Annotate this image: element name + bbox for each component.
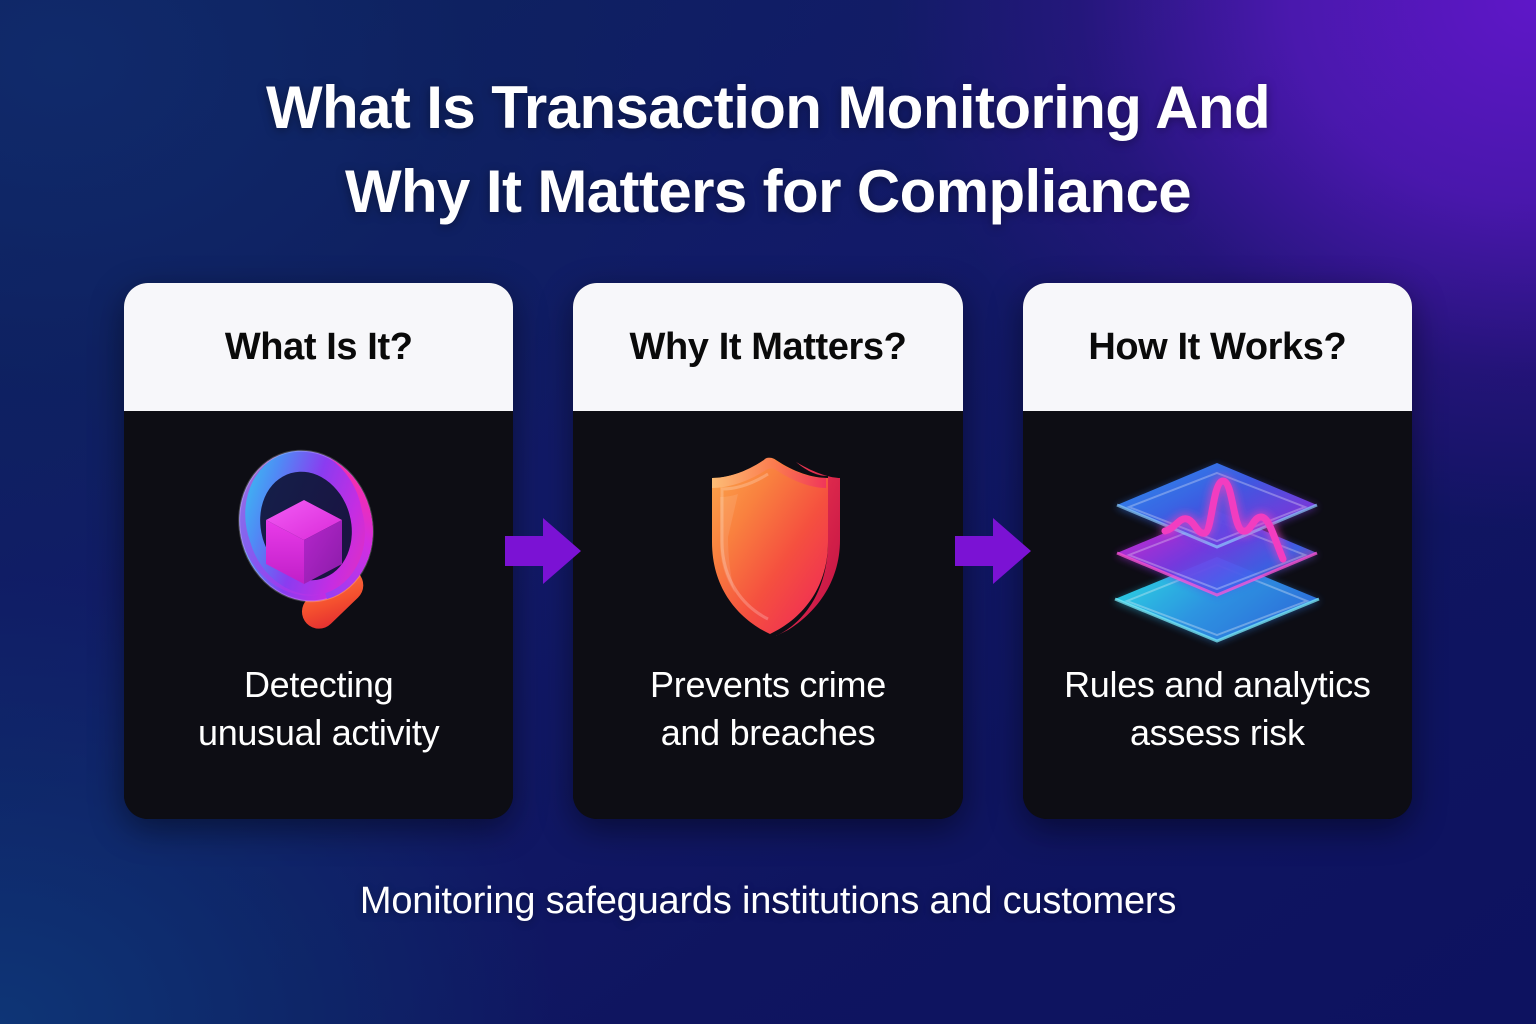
page-title: What Is Transaction Monitoring And Why I… [0,66,1536,234]
card-body-3: Rules and analytics assess risk [1023,411,1412,819]
cards-row: What Is It? [124,283,1412,819]
arrow-two-to-three [955,512,1031,590]
card-caption-2: Prevents crime and breaches [650,661,886,757]
card-body-2: Prevents crime and breaches [573,411,962,819]
card-header-1: What Is It? [124,283,513,411]
magnifying-glass-cube-icon [138,435,499,651]
page-title-line-2: Why It Matters for Compliance [120,150,1416,234]
arrow-one-to-two [505,512,581,590]
card-what-is-it[interactable]: What Is It? [124,283,513,819]
card-how-it-works[interactable]: How It Works? [1023,283,1412,819]
card-caption-3: Rules and analytics assess risk [1064,661,1370,757]
footer-caption: Monitoring safeguards institutions and c… [0,880,1536,923]
card-heading-2: Why It Matters? [630,328,907,366]
page-title-line-1: What Is Transaction Monitoring And [120,66,1416,150]
card-heading-3: How It Works? [1088,328,1346,366]
stacked-layers-analytics-icon [1037,435,1398,651]
card-why-it-matters[interactable]: Why It Matters? [573,283,962,819]
card-header-2: Why It Matters? [573,283,962,411]
card-body-1: Detecting unusual activity [124,411,513,819]
card-header-3: How It Works? [1023,283,1412,411]
shield-icon [587,435,948,651]
infographic-canvas: What Is Transaction Monitoring And Why I… [0,0,1536,1024]
card-caption-1: Detecting unusual activity [198,661,439,757]
card-heading-1: What Is It? [225,328,413,366]
